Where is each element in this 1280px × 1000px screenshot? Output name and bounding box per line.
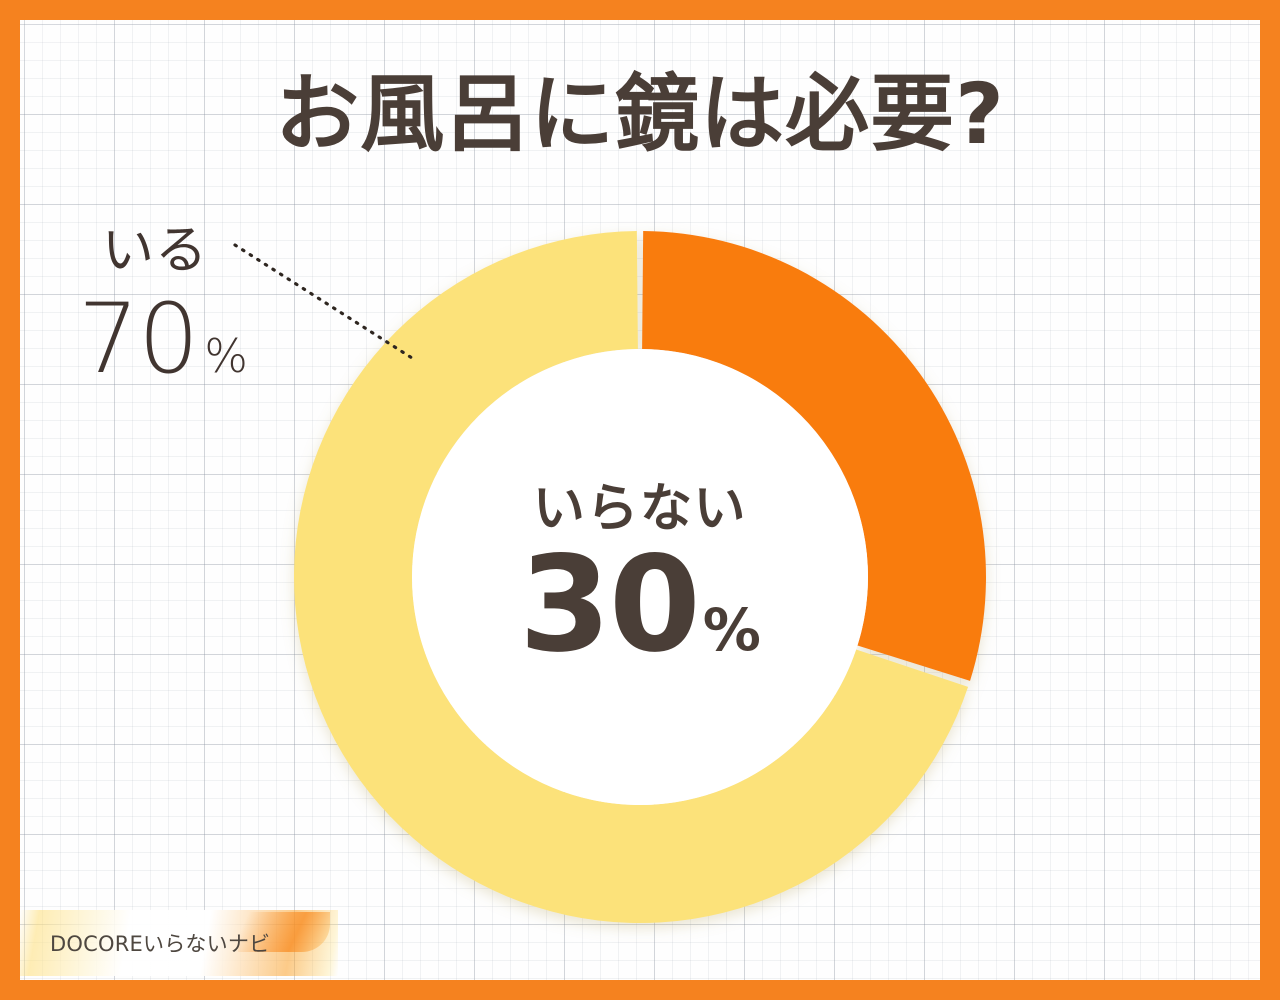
callout-label: いる: [102, 225, 248, 277]
page-title: お風呂に鏡は必要?: [20, 72, 1260, 156]
callout-value: 70: [78, 291, 198, 387]
slice-callout-iru: いる 70 %: [78, 225, 248, 387]
donut-hole: [412, 349, 868, 805]
infographic-poster: お風呂に鏡は必要? いる 70 %: [0, 0, 1280, 1000]
graph-paper-sheet: お風呂に鏡は必要? いる 70 %: [20, 20, 1260, 980]
donut-chart-svg: [294, 231, 986, 923]
site-logo[interactable]: DOCOREいらないナビ: [20, 910, 338, 976]
callout-value-row: 70 %: [78, 291, 248, 387]
callout-unit: %: [204, 329, 248, 383]
donut-chart: いらない 30 %: [294, 231, 986, 923]
logo-text: DOCOREいらないナビ: [50, 928, 270, 958]
